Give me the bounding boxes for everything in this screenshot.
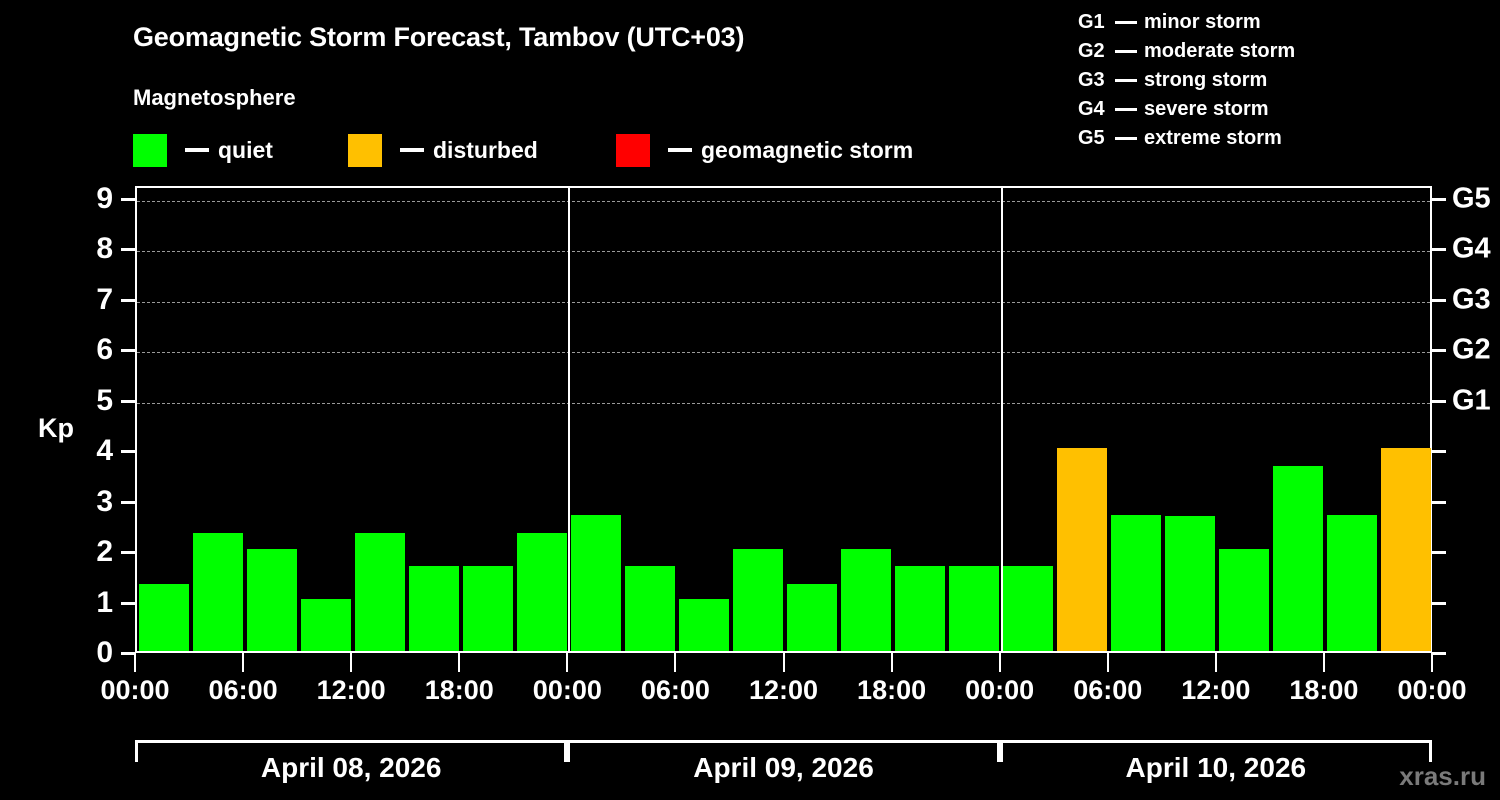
bar-Apr-10-06-00[interactable] [1111, 515, 1161, 651]
g-scale-dash-icon [1115, 21, 1137, 24]
x-axis-tick [891, 653, 893, 672]
x-axis-tick [350, 653, 352, 672]
y-axis-left: 0123456789 [0, 186, 135, 657]
day-label: April 10, 2026 [1126, 752, 1307, 784]
g-scale-label: minor storm [1144, 11, 1261, 33]
y-axis-right-tick [1432, 198, 1446, 201]
y-axis-tick-label: 8 [96, 232, 113, 266]
y-axis-right-tick [1432, 248, 1446, 251]
x-axis-tick-label: 12:00 [1181, 675, 1250, 706]
x-axis-tick-label: 18:00 [857, 675, 926, 706]
bar-Apr-08-12-00[interactable] [355, 533, 405, 651]
y-axis-tick [121, 551, 135, 554]
legend-item-quiet: quiet [133, 133, 273, 167]
legend-dash-icon [185, 148, 209, 152]
day-bracket-line [1000, 740, 1432, 743]
g-scale-row-G2: G2moderate storm [1078, 41, 1295, 61]
bar-Apr-10-12-00[interactable] [1219, 549, 1269, 651]
x-axis-tick-label: 12:00 [317, 675, 386, 706]
y-axis-right-tick [1432, 450, 1446, 453]
bar-Apr-08-00-00[interactable] [139, 584, 189, 651]
g-scale-code: G1 [1078, 12, 1108, 32]
y-axis-tick [121, 450, 135, 453]
bar-Apr-10-18-00[interactable] [1327, 515, 1377, 651]
x-axis-tick [242, 653, 244, 672]
bar-Apr-10-09-00[interactable] [1165, 516, 1215, 651]
y-axis-right-tick [1432, 501, 1446, 504]
legend-dash-icon [668, 148, 692, 152]
y-axis-right-tick [1432, 349, 1446, 352]
legend-item-disturbed: disturbed [348, 133, 538, 167]
bar-Apr-08-21-00[interactable] [517, 533, 567, 651]
y-axis-tick-label: 6 [96, 333, 113, 367]
x-axis-tick [1323, 653, 1325, 672]
y-axis-tick [121, 349, 135, 352]
legend-label: geomagnetic storm [701, 137, 913, 164]
g-axis-label-G1: G1 [1452, 384, 1491, 417]
day-bracket-line [135, 740, 567, 743]
y-axis-tick [121, 602, 135, 605]
x-axis-tick [458, 653, 460, 672]
x-axis-tick [674, 653, 676, 672]
bar-Apr-09-21-00[interactable] [949, 566, 999, 651]
bar-Apr-09-03-00[interactable] [625, 566, 675, 651]
g-scale-dash-icon [1115, 137, 1137, 140]
y-axis-right-tick [1432, 400, 1446, 403]
g-axis-label-G4: G4 [1452, 233, 1491, 266]
y-axis-right-tick [1432, 551, 1446, 554]
bar-Apr-08-06-00[interactable] [247, 549, 297, 651]
bar-Apr-09-15-00[interactable] [841, 549, 891, 651]
y-axis-tick-label: 2 [96, 535, 113, 569]
bar-Apr-09-09-00[interactable] [733, 549, 783, 651]
bar-Apr-09-12-00[interactable] [787, 584, 837, 651]
y-axis-tick [121, 400, 135, 403]
y-axis-tick-label: 7 [96, 283, 113, 317]
bar-Apr-09-06-00[interactable] [679, 599, 729, 651]
day-bracket-line [567, 740, 999, 743]
x-axis-tick [1107, 653, 1109, 672]
y-axis-tick [121, 198, 135, 201]
page-title: Geomagnetic Storm Forecast, Tambov (UTC+… [133, 22, 744, 53]
orange-square-icon [348, 134, 382, 167]
x-axis-tick [783, 653, 785, 672]
bar-series [137, 188, 1430, 651]
g-scale-legend: G1minor stormG2moderate stormG3strong st… [1078, 12, 1295, 157]
day-label: April 09, 2026 [693, 752, 874, 784]
green-square-icon [133, 134, 167, 167]
bar-Apr-08-15-00[interactable] [409, 566, 459, 651]
y-axis-tick-label: 4 [96, 434, 113, 468]
g-scale-label: severe storm [1144, 98, 1269, 120]
day-bracket-cap-right [1429, 740, 1432, 762]
day-label: April 08, 2026 [261, 752, 442, 784]
plot-area [135, 186, 1432, 653]
x-axis-tick-label: 00:00 [965, 675, 1034, 706]
x-axis-tick-label: 06:00 [641, 675, 710, 706]
y-axis-tick [121, 248, 135, 251]
watermark: xras.ru [1399, 761, 1486, 792]
g-scale-label: moderate storm [1144, 40, 1295, 62]
bar-Apr-09-18-00[interactable] [895, 566, 945, 651]
x-axis-tick [999, 653, 1001, 672]
x-axis: 00:0006:0012:0018:0000:0006:0012:0018:00… [0, 653, 1500, 673]
y-axis-right-tick [1432, 602, 1446, 605]
legend-label: quiet [218, 137, 273, 164]
bar-Apr-10-03-00[interactable] [1057, 448, 1107, 651]
g-scale-code: G2 [1078, 41, 1108, 61]
x-axis-tick [134, 653, 136, 672]
g-scale-row-G1: G1minor storm [1078, 12, 1295, 32]
legend-item-geomagnetic-storm: geomagnetic storm [616, 133, 913, 167]
y-axis-right-tick [1432, 299, 1446, 302]
g-scale-row-G4: G4severe storm [1078, 99, 1295, 119]
g-scale-row-G5: G5extreme storm [1078, 128, 1295, 148]
x-axis-tick-label: 18:00 [1289, 675, 1358, 706]
chart-subtitle: Magnetosphere [133, 85, 296, 111]
bar-Apr-08-03-00[interactable] [193, 533, 243, 651]
g-axis-label-G5: G5 [1452, 183, 1491, 216]
day-bracket-cap-left [135, 740, 138, 762]
x-axis-tick-label: 06:00 [209, 675, 278, 706]
legend-dash-icon [400, 148, 424, 152]
g-scale-code: G3 [1078, 70, 1108, 90]
legend-label: disturbed [433, 137, 538, 164]
y-axis-tick [121, 501, 135, 504]
g-scale-label: strong storm [1144, 69, 1267, 91]
y-axis-tick [121, 299, 135, 302]
x-axis-tick-label: 00:00 [533, 675, 602, 706]
y-axis-tick-label: 9 [96, 182, 113, 216]
g-scale-dash-icon [1115, 50, 1137, 53]
x-axis-tick-label: 12:00 [749, 675, 818, 706]
g-axis-label-G2: G2 [1452, 334, 1491, 367]
y-axis-tick-label: 5 [96, 384, 113, 418]
red-square-icon [616, 134, 650, 167]
x-axis-tick [1215, 653, 1217, 672]
x-axis-tick-label: 00:00 [100, 675, 169, 706]
x-axis-tick-label: 18:00 [425, 675, 494, 706]
bar-Apr-10-00-00[interactable] [1003, 566, 1053, 651]
day-bracket-cap-left [1000, 740, 1003, 762]
y-axis-tick-label: 1 [96, 586, 113, 620]
g-scale-code: G4 [1078, 99, 1108, 119]
x-axis-tick-label: 06:00 [1073, 675, 1142, 706]
g-scale-dash-icon [1115, 108, 1137, 111]
bar-Apr-10-15-00[interactable] [1273, 466, 1323, 651]
chart-root: Geomagnetic Storm Forecast, Tambov (UTC+… [0, 0, 1500, 800]
g-axis-label-G3: G3 [1452, 283, 1491, 316]
x-axis-tick [566, 653, 568, 672]
g-scale-row-G3: G3strong storm [1078, 70, 1295, 90]
g-scale-label: extreme storm [1144, 127, 1282, 149]
x-axis-tick-label: 00:00 [1397, 675, 1466, 706]
day-bracket-cap-left [567, 740, 570, 762]
bar-Apr-08-18-00[interactable] [463, 566, 513, 651]
g-scale-code: G5 [1078, 128, 1108, 148]
bar-Apr-10-21-00[interactable] [1381, 448, 1431, 651]
bar-Apr-08-09-00[interactable] [301, 599, 351, 651]
x-axis-tick [1431, 653, 1433, 672]
g-scale-dash-icon [1115, 79, 1137, 82]
y-axis-tick-label: 3 [96, 485, 113, 519]
bar-Apr-09-00-00[interactable] [571, 515, 621, 651]
y-axis-right: G1G2G3G4G5 [1432, 186, 1500, 657]
